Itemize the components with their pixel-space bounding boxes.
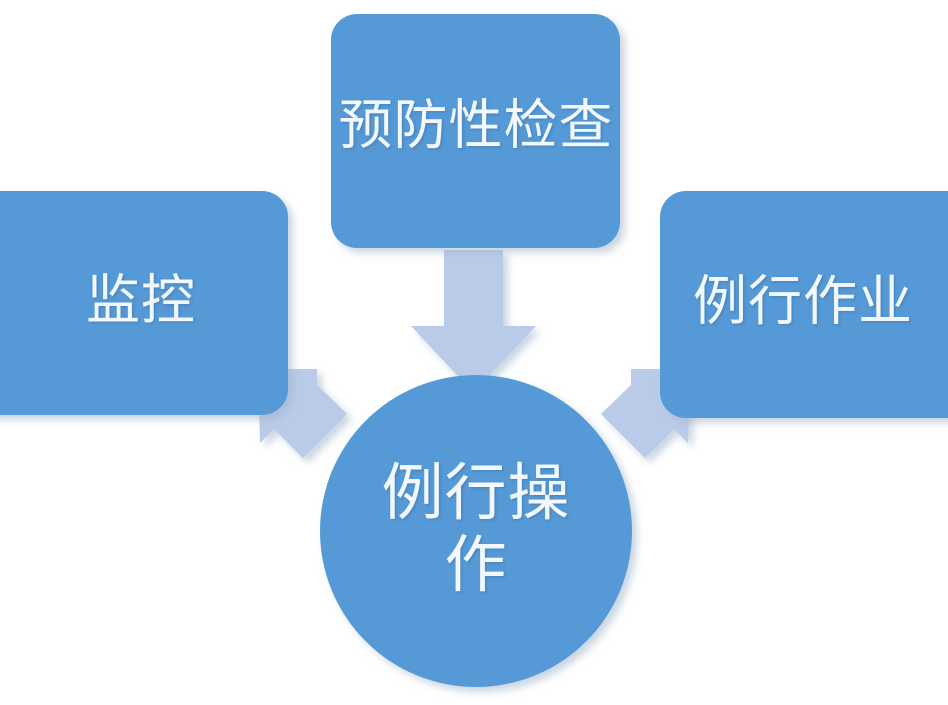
- node-routine-work[interactable]: 例行作业: [660, 191, 948, 418]
- node-routine-operations[interactable]: 例行操 作: [320, 375, 632, 687]
- routine-operations-label-line2: 作: [444, 532, 507, 600]
- routine-work-label: 例行作业: [693, 271, 913, 331]
- diagram-canvas: 预防性检查 监控 例行作业 例行操 作: [0, 0, 948, 705]
- diagram-svg: 预防性检查 监控 例行作业 例行操 作: [0, 0, 948, 705]
- node-preventive-inspection[interactable]: 预防性检查: [331, 14, 620, 248]
- preventive-inspection-label: 预防性检查: [339, 95, 614, 155]
- monitoring-label: 监控: [86, 270, 196, 330]
- routine-operations-shape[interactable]: [320, 375, 632, 687]
- node-monitoring[interactable]: 监控: [0, 191, 288, 415]
- routine-operations-label-line1: 例行操: [381, 460, 570, 528]
- arrow-top-to-center: [411, 250, 536, 392]
